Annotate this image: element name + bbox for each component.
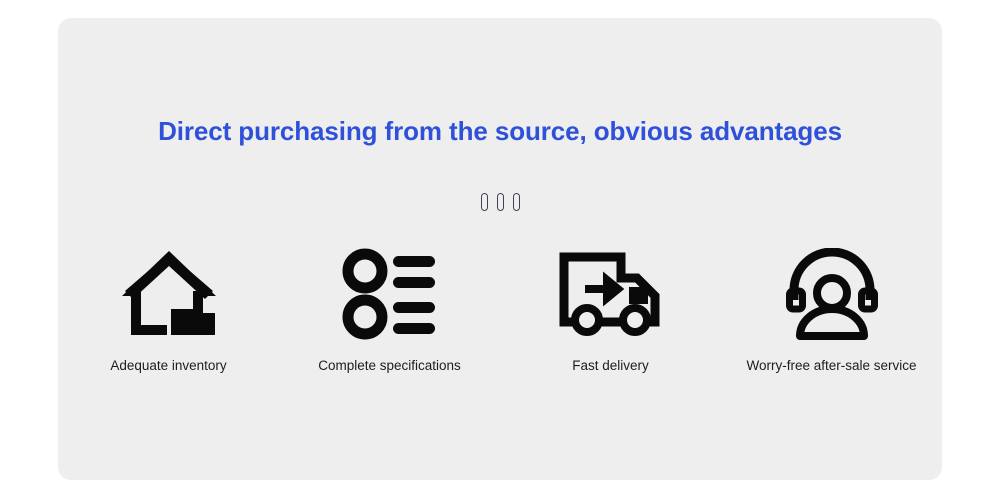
advantages-card: Direct purchasing from the source, obvio…: [58, 18, 942, 480]
divider-bar-icon: [497, 193, 504, 211]
headset-support-icon: [777, 240, 887, 348]
feature-label: Complete specifications: [318, 357, 461, 375]
three-bars-divider: [58, 193, 942, 211]
feature-item-specifications: Complete specifications: [279, 240, 500, 375]
feature-label: Fast delivery: [572, 357, 649, 375]
feature-item-delivery: Fast delivery: [500, 240, 721, 375]
feature-item-after-sale: Worry-free after-sale service: [721, 240, 942, 375]
features-row: Adequate inventory Complete specificatio…: [58, 240, 942, 375]
divider-bar-icon: [513, 193, 520, 211]
feature-label: Adequate inventory: [110, 357, 226, 375]
list-specifications-icon: [335, 240, 445, 348]
divider-bar-icon: [481, 193, 488, 211]
warehouse-inventory-icon: [114, 240, 224, 348]
page-title: Direct purchasing from the source, obvio…: [58, 116, 942, 147]
page-root: Direct purchasing from the source, obvio…: [0, 0, 1000, 499]
delivery-truck-icon: [556, 240, 666, 348]
feature-item-inventory: Adequate inventory: [58, 240, 279, 375]
feature-label: Worry-free after-sale service: [746, 357, 916, 375]
